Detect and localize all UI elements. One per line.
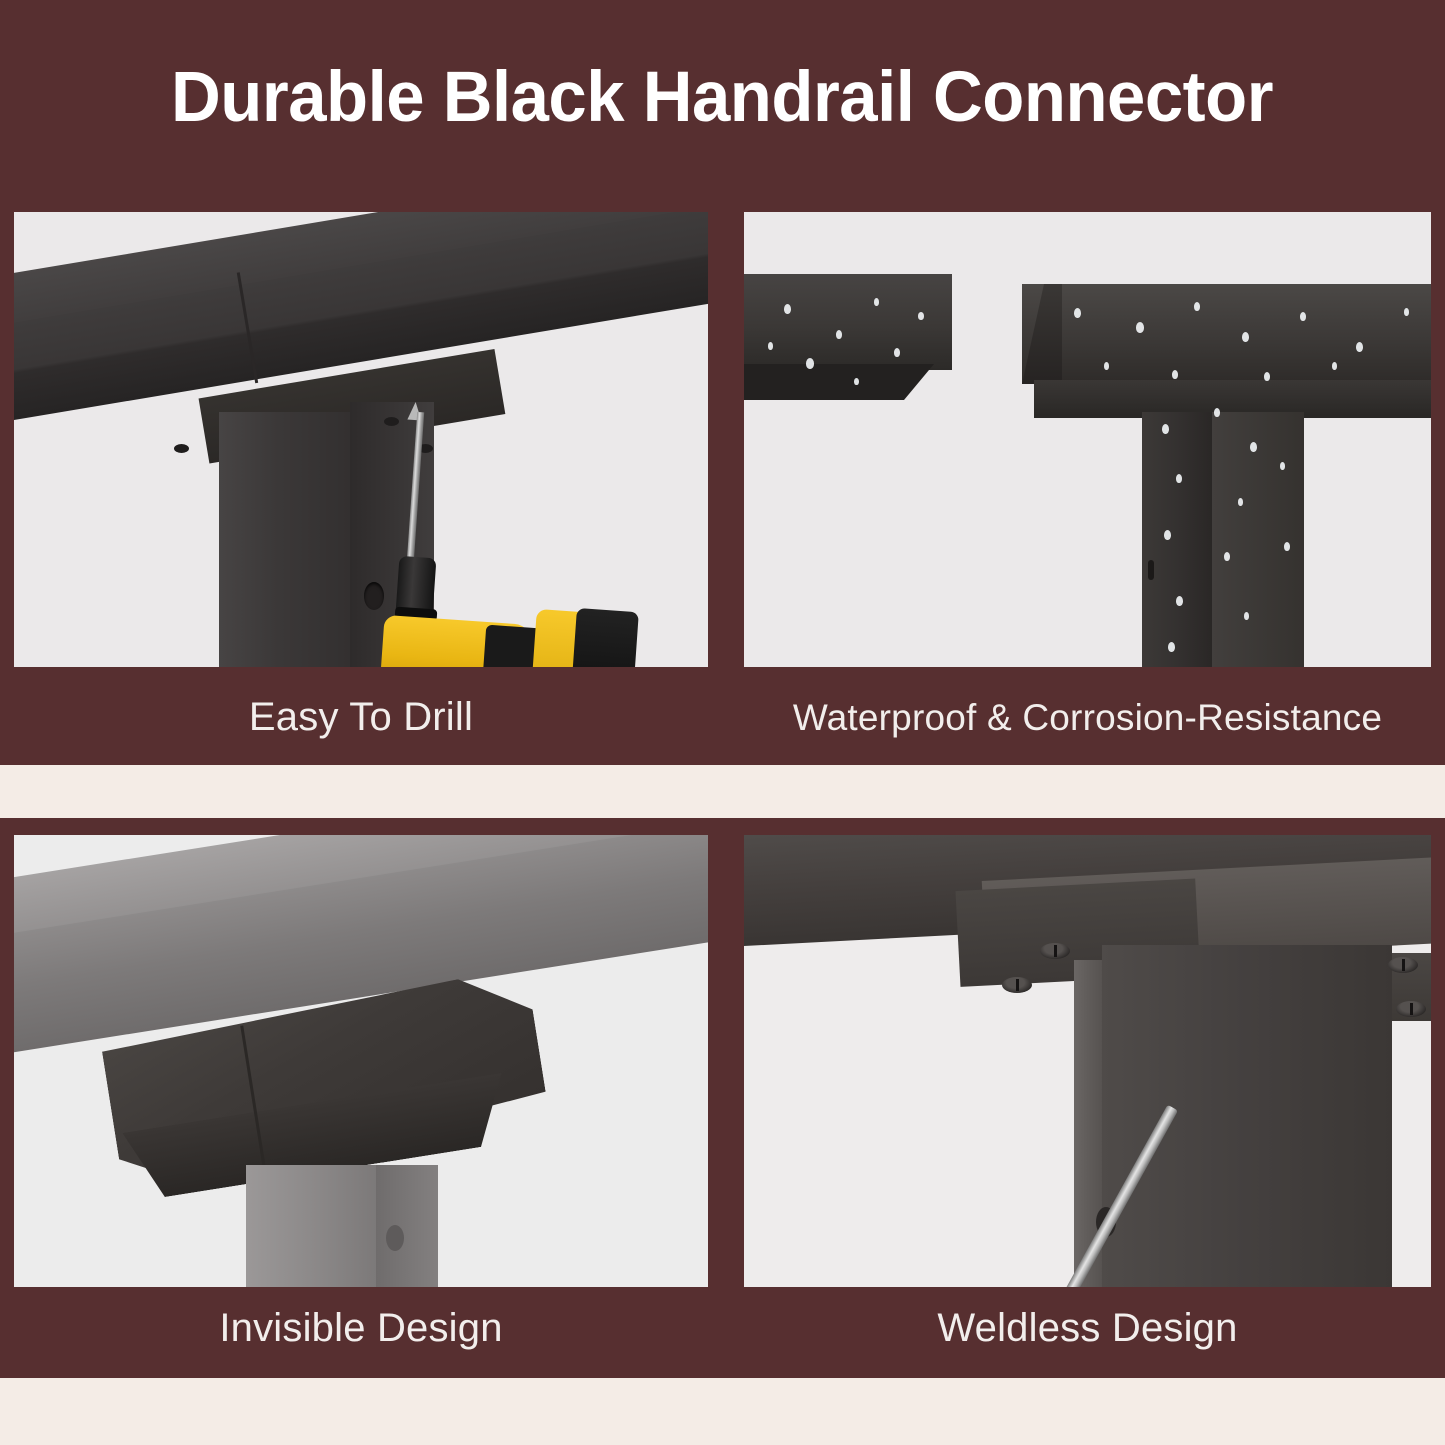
screw-head-icon [1040,943,1070,959]
water-droplet-icon [1162,424,1169,434]
feature-panel-easy-to-drill: Easy To Drill [0,195,722,765]
pilot-hole [364,582,384,610]
water-droplet-icon [874,298,879,306]
post-right-face [376,1165,438,1287]
water-droplet-icon [1224,552,1230,561]
header-banner: Durable Black Handrail Connector [0,0,1445,195]
post-left-face [1142,412,1212,667]
water-droplet-icon [1250,442,1257,452]
feature-image-invisible-design [14,835,708,1287]
post-right-face [1212,412,1304,667]
water-droplet-icon [836,330,842,339]
feature-panel-waterproof: Waterproof & Corrosion-Resistance [730,195,1445,765]
section-divider-band [0,765,1445,818]
water-droplet-icon [1244,612,1249,620]
water-droplet-icon [1264,372,1270,381]
post-face [1102,945,1392,1287]
screw-head-icon [1002,977,1032,993]
water-droplet-icon [1104,362,1109,370]
water-droplet-icon [1280,462,1285,470]
water-droplet-icon [1242,332,1249,342]
water-droplet-icon [1332,362,1337,370]
post-left-face [246,1165,376,1287]
product-infographic: Durable Black Handrail Connector Easy To [0,0,1445,1445]
caption-invisible-design: Invisible Design [0,1278,722,1378]
feature-panel-weldless-design: Weldless Design [730,818,1445,1378]
feature-image-weldless-design [744,835,1431,1287]
water-droplet-icon [1238,498,1243,506]
post-slot [1148,560,1154,580]
panel-divider-vertical-bottom [722,818,730,1378]
water-droplet-icon [1284,542,1290,551]
water-droplet-icon [894,348,900,357]
water-droplet-icon [1194,302,1200,311]
water-droplet-icon [1214,408,1220,417]
screw-head-icon [1388,957,1418,973]
feature-panel-invisible-design: Invisible Design [0,818,722,1378]
handrail-right-segment [1022,284,1431,384]
feature-image-easy-to-drill [14,212,708,667]
post-hole [386,1225,404,1251]
page-title: Durable Black Handrail Connector [172,62,1274,133]
caption-weldless-design: Weldless Design [730,1278,1445,1378]
caption-easy-to-drill: Easy To Drill [0,670,722,765]
screw-head-icon [1396,1001,1426,1017]
water-droplet-icon [1404,308,1409,316]
water-droplet-icon [1136,322,1144,333]
footer-band [0,1378,1445,1445]
water-droplet-icon [918,312,924,320]
water-droplet-icon [1356,342,1363,352]
bolt-icon [174,444,189,453]
water-droplet-icon [854,378,859,385]
water-droplet-icon [784,304,791,314]
water-droplet-icon [1168,642,1175,652]
water-droplet-icon [1300,312,1306,321]
water-droplet-icon [768,342,773,350]
water-droplet-icon [806,358,814,369]
water-droplet-icon [1176,474,1182,483]
panel-divider-vertical-top [722,195,730,765]
handrail-left-segment [744,274,952,370]
bolt-icon [384,417,399,426]
water-droplet-icon [1172,370,1178,379]
water-droplet-icon [1176,596,1183,606]
drill-battery-base [571,608,639,667]
water-droplet-icon [1074,308,1081,318]
water-droplet-icon [1164,530,1171,540]
post-left-face [219,412,350,667]
feature-image-waterproof [744,212,1431,667]
caption-waterproof: Waterproof & Corrosion-Resistance [730,670,1445,765]
handrail-left-underside [744,364,934,400]
